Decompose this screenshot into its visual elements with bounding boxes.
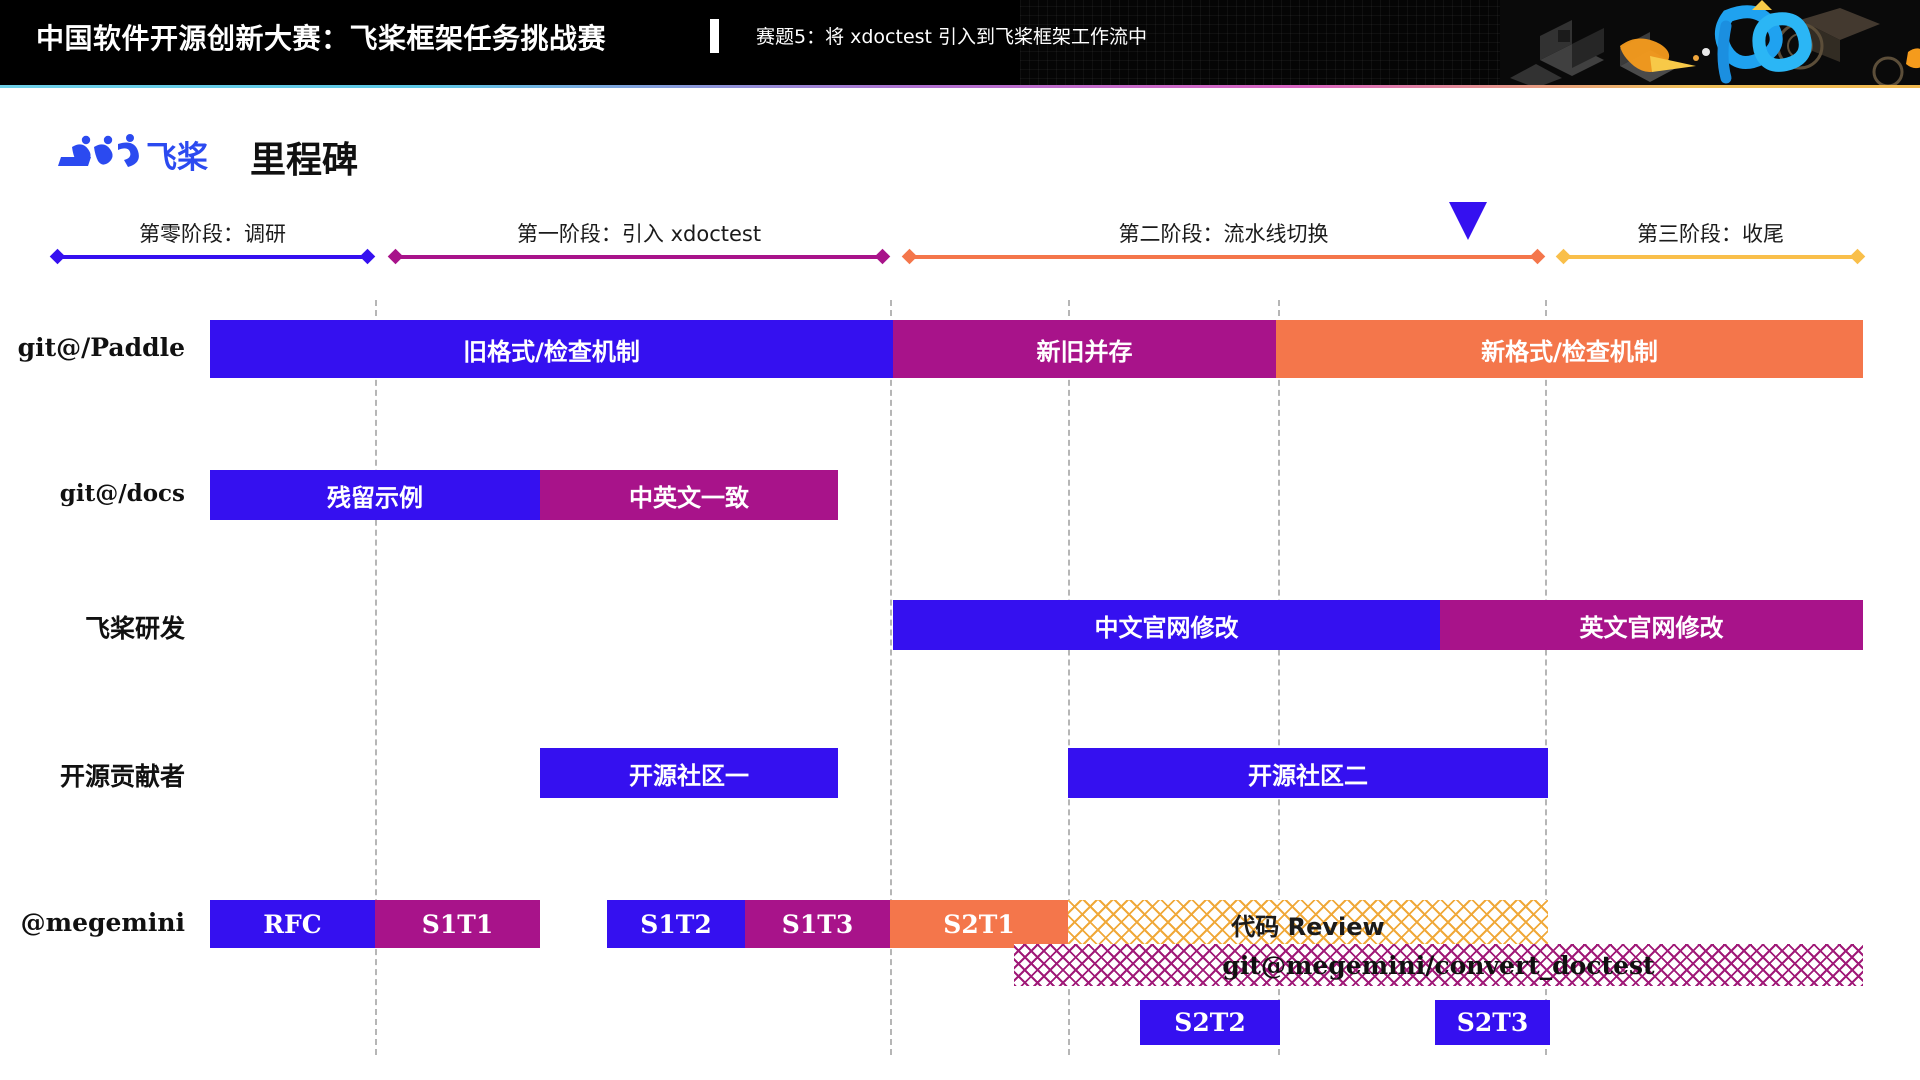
current-phase-marker-icon: [1449, 202, 1487, 240]
gantt-bar-label: 残留示例: [327, 478, 423, 513]
row-label-4: @megemini: [0, 908, 185, 937]
phase-label-3: 第三阶段：收尾: [1556, 218, 1865, 248]
gantt-bar[interactable]: 新旧并存: [893, 320, 1276, 378]
gantt-bar[interactable]: S2T2: [1140, 1000, 1280, 1045]
gantt-bar-label: S2T2: [1174, 1008, 1245, 1037]
gantt-bar[interactable]: S1T3: [745, 900, 890, 948]
gantt-bar-label: S1T1: [422, 910, 493, 939]
gantt-bar-label: 英文官网修改: [1580, 608, 1724, 643]
gantt-bar-label: 中英文一致: [629, 478, 749, 513]
gantt-bar-label: 中文官网修改: [1095, 608, 1239, 643]
gantt-bar-label: 开源社区二: [1248, 756, 1368, 791]
phase-arrow-2: [902, 250, 1545, 264]
phase-arrow-left-tip-icon: [50, 249, 66, 265]
phase-arrow-line: [58, 255, 367, 259]
phase-arrow-right-tip-icon: [875, 249, 891, 265]
gantt-bar-label: S1T3: [782, 910, 853, 939]
phase-arrow-right-tip-icon: [360, 249, 376, 265]
gantt-bar[interactable]: 中文官网修改: [893, 600, 1440, 650]
gantt-bar-label: S2T3: [1457, 1008, 1528, 1037]
gantt-bar-label: git@megemini/convert_doctest: [1222, 951, 1654, 980]
gantt-bar[interactable]: 代码 Review: [1068, 900, 1548, 948]
gantt-bar[interactable]: 开源社区一: [540, 748, 838, 798]
phase-arrow-right-tip-icon: [1850, 249, 1866, 265]
phase-arrow-line: [910, 255, 1537, 259]
phase-arrow-1: [388, 250, 890, 264]
gantt-bar-label: 旧格式/检查机制: [463, 332, 640, 367]
gantt-bar-label: 代码 Review: [1231, 907, 1384, 942]
gantt-bar[interactable]: 开源社区二: [1068, 748, 1548, 798]
row-label-0: git@/Paddle: [0, 333, 185, 362]
gantt-bar-label: 开源社区一: [629, 756, 749, 791]
gantt-bar[interactable]: 英文官网修改: [1440, 600, 1863, 650]
gantt-bar-label: RFC: [263, 910, 321, 939]
gantt-bar[interactable]: 旧格式/检查机制: [210, 320, 893, 378]
gantt-bar[interactable]: 残留示例: [210, 470, 540, 520]
gantt-bar[interactable]: git@megemini/convert_doctest: [1014, 944, 1863, 986]
gantt-bar[interactable]: RFC: [210, 900, 375, 948]
milestone-gantt-chart: 第零阶段：调研第一阶段：引入 xdoctest第二阶段：流水线切换第三阶段：收尾…: [0, 0, 1920, 1080]
gantt-bar-label: S2T1: [943, 910, 1014, 939]
gantt-bar-label: 新格式/检查机制: [1481, 332, 1658, 367]
gantt-bar-label: 新旧并存: [1037, 332, 1133, 367]
gantt-bar[interactable]: 新格式/检查机制: [1276, 320, 1863, 378]
phase-arrow-3: [1556, 250, 1865, 264]
row-label-3: 开源贡献者: [0, 757, 185, 793]
phase-arrow-0: [50, 250, 375, 264]
gantt-bar[interactable]: S1T2: [607, 900, 745, 948]
phase-arrow-right-tip-icon: [1530, 249, 1546, 265]
phase-arrow-left-tip-icon: [902, 249, 918, 265]
phase-arrow-line: [1564, 255, 1857, 259]
gantt-bar[interactable]: S2T1: [890, 900, 1068, 948]
gantt-bar[interactable]: 中英文一致: [540, 470, 838, 520]
row-label-1: git@/docs: [0, 480, 185, 507]
phase-arrow-line: [396, 255, 882, 259]
gantt-bar-label: S1T2: [640, 910, 711, 939]
phase-label-0: 第零阶段：调研: [50, 218, 375, 248]
gantt-bar[interactable]: S2T3: [1435, 1000, 1550, 1045]
row-label-2: 飞桨研发: [0, 609, 185, 645]
phase-label-1: 第一阶段：引入 xdoctest: [388, 218, 890, 248]
phase-arrow-left-tip-icon: [388, 249, 404, 265]
gantt-bar[interactable]: S1T1: [375, 900, 540, 948]
phase-arrow-left-tip-icon: [1556, 249, 1572, 265]
